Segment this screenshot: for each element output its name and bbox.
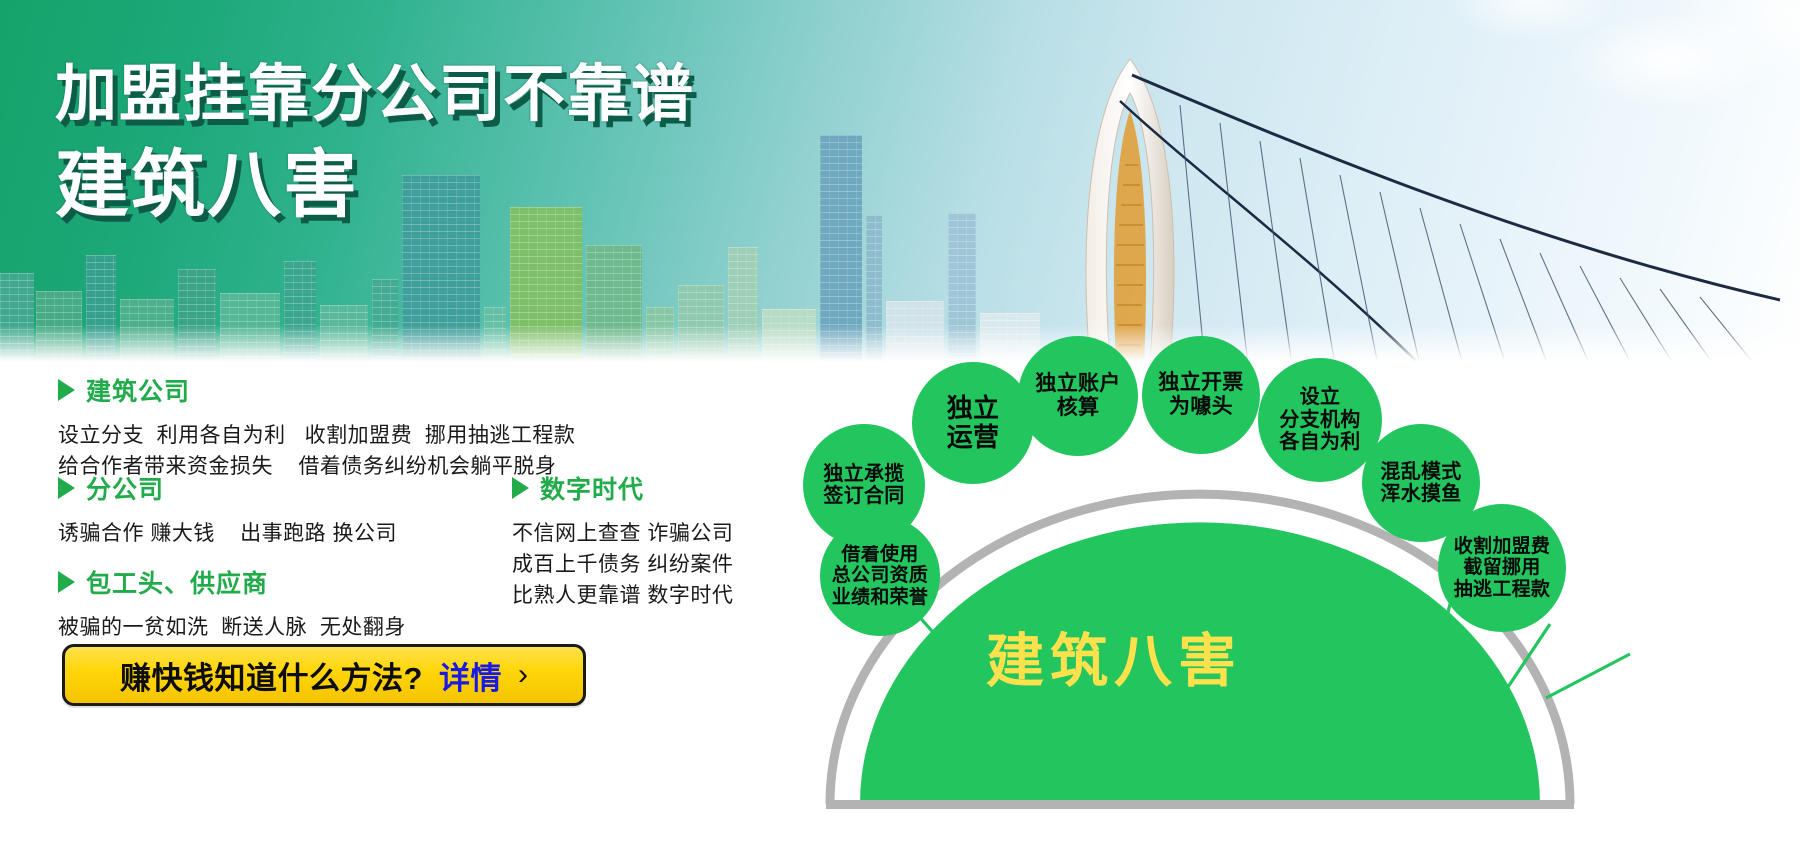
bubble-line: 独立开票	[1158, 371, 1243, 395]
triangle-bullet-icon	[58, 571, 75, 593]
bubble-line: 设立	[1279, 386, 1360, 408]
section-digital-era: 数字时代 不信网上查查 诈骗公司 成百上千债务 纠纷案件 比熟人更靠谱 数字时代	[512, 470, 733, 611]
cta-main-label: 赚快钱知道什么方法?	[120, 653, 423, 698]
bubble-item[interactable]: 收割加盟费 截留挪用 抽逃工程款	[1438, 504, 1566, 632]
bubble-line: 为噱头	[1158, 395, 1243, 419]
chevron-right-icon: ›	[518, 658, 528, 692]
bubble-line: 截留挪用	[1454, 557, 1551, 578]
triangle-bullet-icon	[512, 477, 529, 499]
bubble-line: 总公司资质	[832, 565, 929, 586]
section-line: 诱骗合作 赚大钱 出事跑路 换公司	[58, 518, 397, 549]
section-construction-company: 建筑公司 设立分支 利用各自为利 收割加盟费 挪用抽逃工程款 给合作者带来资金损…	[58, 372, 575, 482]
bubble-line: 独立账户	[1035, 372, 1120, 396]
banner-title: 加盟挂靠分公司不靠谱 建筑八害	[55, 56, 695, 230]
bubble-item[interactable]: 独立账户 核算	[1018, 336, 1138, 456]
bubble-line: 运营	[947, 423, 1000, 452]
bubble-line: 浑水摸鱼	[1380, 483, 1461, 505]
section-title: 包工头、供应商	[86, 564, 268, 600]
eight-harms-diagram: 借着使用 总公司资质 业绩和荣誉 独立承揽 签订合同 独立 运营 独立账户 核算	[790, 336, 1800, 844]
section-line: 成百上千债务 纠纷案件	[512, 549, 733, 580]
section-branch-company: 分公司 诱骗合作 赚大钱 出事跑路 换公司	[58, 470, 397, 549]
bubble-item[interactable]: 独立 运营	[912, 362, 1034, 484]
bubble-line: 签订合同	[823, 485, 904, 507]
section-header: 数字时代	[512, 470, 733, 506]
bubble-line: 抽逃工程款	[1454, 579, 1551, 600]
section-line: 比熟人更靠谱 数字时代	[512, 580, 733, 611]
section-title: 数字时代	[540, 470, 644, 506]
triangle-bullet-icon	[58, 477, 75, 499]
section-line: 被骗的一贫如洗 断送人脉 无处翻身	[58, 612, 406, 643]
bubble-line: 分支机构	[1279, 409, 1360, 431]
section-title: 建筑公司	[86, 372, 190, 408]
poster-root: 加盟挂靠分公司不靠谱 建筑八害 建筑公司 设立分支 利用各自为利 收割加盟费 挪…	[0, 0, 1800, 844]
cta-details-button[interactable]: 赚快钱知道什么方法? 详情 ›	[62, 644, 586, 706]
bubble-item[interactable]: 独立开票 为噱头	[1142, 336, 1260, 454]
section-line: 不信网上查查 诈骗公司	[512, 518, 733, 549]
banner-title-line1: 加盟挂靠分公司不靠谱	[55, 56, 695, 134]
bubble-line: 独立	[947, 394, 1000, 423]
bubble-line: 混乱模式	[1380, 461, 1461, 483]
section-contractor-supplier: 包工头、供应商 被骗的一贫如洗 断送人脉 无处翻身	[58, 564, 406, 643]
bubble-line: 借着使用	[832, 544, 929, 565]
dome-label: 建筑八害	[986, 614, 1242, 698]
banner-title-line2: 建筑八害	[55, 140, 695, 230]
section-header: 包工头、供应商	[58, 564, 406, 600]
bubble-line: 独立承揽	[823, 463, 904, 485]
bubble-item[interactable]: 独立承揽 签订合同	[803, 424, 925, 546]
bubble-line: 核算	[1035, 396, 1120, 420]
bubble-line: 各自为利	[1279, 431, 1360, 453]
section-header: 分公司	[58, 470, 397, 506]
section-title: 分公司	[86, 470, 164, 506]
bubble-line: 业绩和荣誉	[832, 587, 929, 608]
triangle-bullet-icon	[58, 379, 75, 401]
cta-link-label[interactable]: 详情	[439, 653, 502, 698]
bubble-line: 收割加盟费	[1454, 536, 1551, 557]
bridge-image	[1020, 45, 1800, 365]
bubble-item[interactable]: 设立 分支机构 各自为利	[1258, 358, 1382, 482]
section-line: 设立分支 利用各自为利 收割加盟费 挪用抽逃工程款	[58, 420, 575, 451]
hero-banner: 加盟挂靠分公司不靠谱 建筑八害	[0, 0, 1800, 365]
section-header: 建筑公司	[58, 372, 575, 408]
